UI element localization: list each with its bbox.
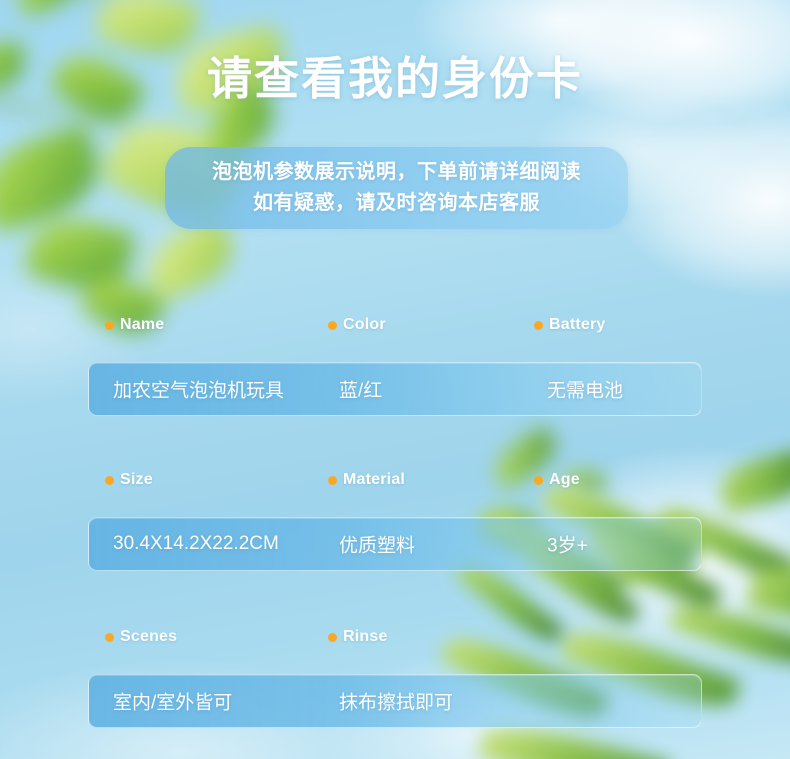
spec-label-age: Age [534, 471, 580, 489]
spec-label-rinse: Rinse [328, 628, 388, 646]
subtitle-banner: 泡泡机参数展示说明，下单前请详细阅读 如有疑惑，请及时咨询本店客服 [165, 147, 628, 229]
spec-label-material: Material [328, 471, 405, 489]
spec-label-size: Size [105, 471, 153, 489]
spec-row-1: Name Color Battery 加农空气泡泡机玩具 蓝/红 无需电池 [88, 316, 702, 416]
spec-row-3: Scenes Rinse 室内/室外皆可 抹布擦拭即可 [88, 628, 702, 728]
spec-value-name: 加农空气泡泡机玩具 [113, 376, 284, 403]
bullet-dot-icon [328, 321, 337, 330]
poster-content: 请查看我的身份卡 泡泡机参数展示说明，下单前请详细阅读 如有疑惑，请及时咨询本店… [0, 0, 790, 759]
spec-label-color: Color [328, 316, 386, 334]
spec-row-2-labels: Size Material Age [88, 471, 702, 501]
bullet-dot-icon [534, 321, 543, 330]
spec-value-scenes: 室内/室外皆可 [113, 688, 232, 715]
spec-value-size: 30.4X14.2X22.2CM [113, 533, 279, 555]
bullet-dot-icon [328, 633, 337, 642]
bullet-dot-icon [328, 476, 337, 485]
spec-row-3-labels: Scenes Rinse [88, 628, 702, 658]
spec-value-box-3: 室内/室外皆可 抹布擦拭即可 [88, 674, 702, 728]
spec-label-scenes: Scenes [105, 628, 177, 646]
bullet-dot-icon [105, 321, 114, 330]
spec-value-rinse: 抹布擦拭即可 [339, 688, 453, 715]
bullet-dot-icon [105, 633, 114, 642]
spec-value-color: 蓝/红 [339, 376, 382, 403]
spec-label-name: Name [105, 316, 164, 334]
spec-row-2: Size Material Age 30.4X14.2X22.2CM 优质塑料 … [88, 471, 702, 571]
bullet-dot-icon [105, 476, 114, 485]
spec-label-battery: Battery [534, 316, 606, 334]
spec-value-box-1: 加农空气泡泡机玩具 蓝/红 无需电池 [88, 362, 702, 416]
spec-value-box-2: 30.4X14.2X22.2CM 优质塑料 3岁+ [88, 517, 702, 571]
subtitle-line-1: 泡泡机参数展示说明，下单前请详细阅读 [212, 157, 581, 188]
spec-value-age: 3岁+ [547, 531, 588, 558]
product-spec-poster: 请查看我的身份卡 泡泡机参数展示说明，下单前请详细阅读 如有疑惑，请及时咨询本店… [0, 0, 790, 759]
subtitle-line-2: 如有疑惑，请及时咨询本店客服 [253, 188, 540, 219]
spec-row-1-labels: Name Color Battery [88, 316, 702, 346]
spec-value-battery: 无需电池 [547, 376, 623, 403]
bullet-dot-icon [534, 476, 543, 485]
page-title: 请查看我的身份卡 [0, 55, 790, 102]
spec-value-material: 优质塑料 [339, 531, 415, 558]
